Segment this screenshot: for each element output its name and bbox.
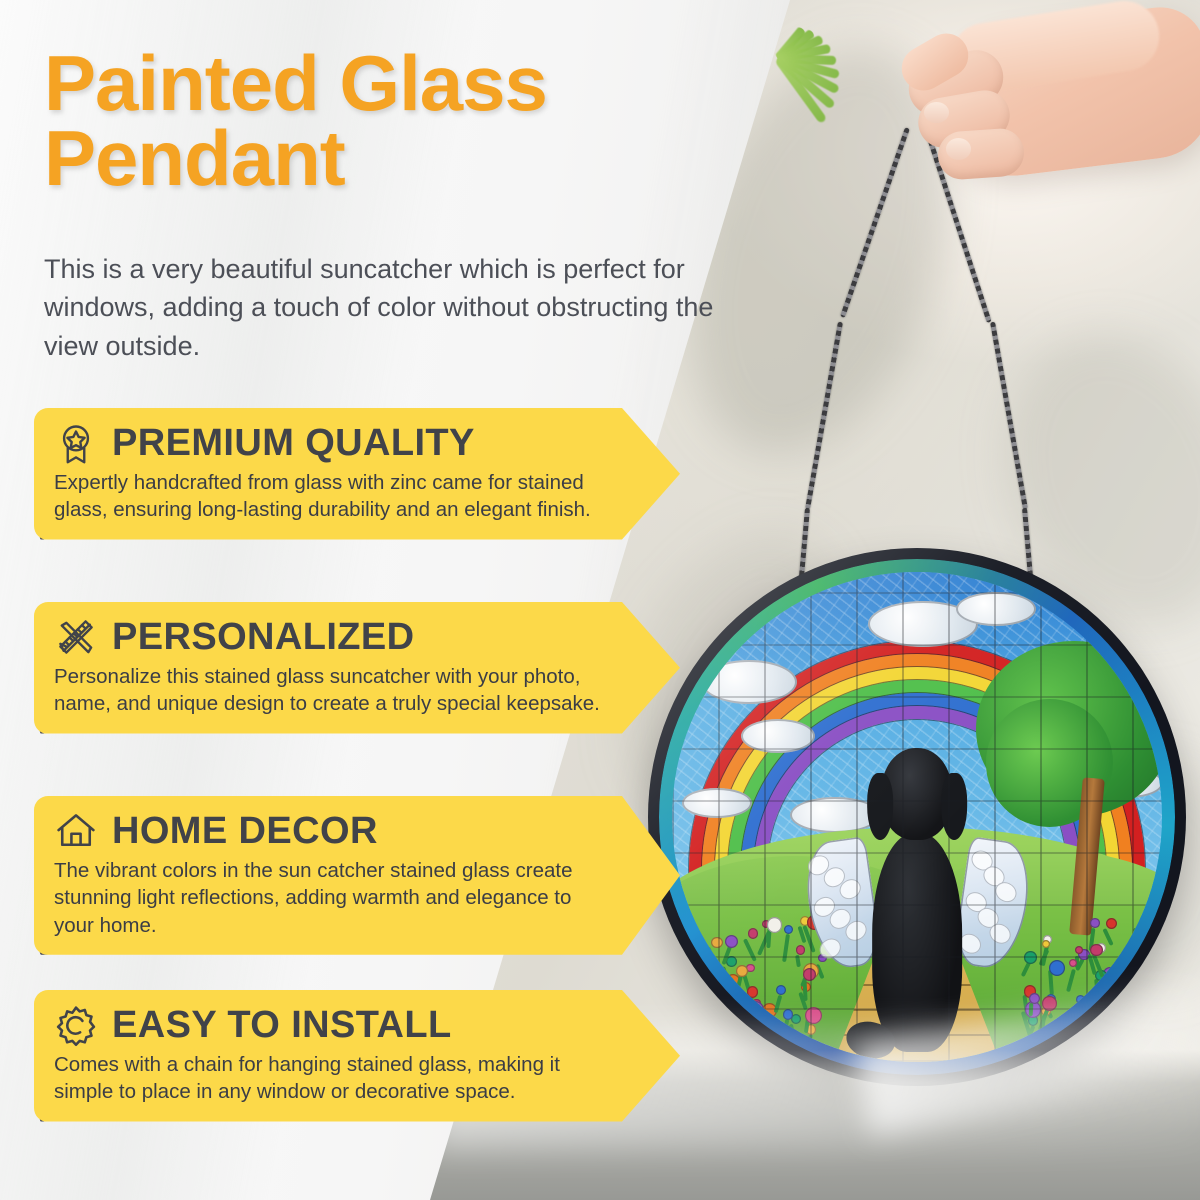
feature-item-easy-to-install[interactable]: EASY TO INSTALL Comes with a chain for h… <box>34 990 680 1122</box>
feature-description: Personalize this stained glass suncatche… <box>54 663 610 718</box>
ruler-pencil-icon <box>54 615 98 659</box>
feature-title: PREMIUM QUALITY <box>112 424 475 462</box>
feature-title: HOME DECOR <box>112 812 378 850</box>
infographic-canvas: Painted Glass Pendant This is a very bea… <box>0 0 1200 1200</box>
page-subtitle: This is a very beautiful suncatcher whic… <box>44 250 734 365</box>
feature-description: The vibrant colors in the sun catcher st… <box>54 857 610 939</box>
page-title-line2: Pendant <box>44 121 764 196</box>
feature-item-home-decor[interactable]: HOME DECOR The vibrant colors in the sun… <box>34 796 680 955</box>
flower-shape <box>701 1010 711 1020</box>
feature-description: Comes with a chain for hanging stained g… <box>54 1051 610 1106</box>
gear-icon <box>54 1003 98 1047</box>
home-heart-icon <box>54 809 98 853</box>
feature-title: EASY TO INSTALL <box>112 1006 452 1044</box>
feature-description: Expertly handcrafted from glass with zin… <box>54 469 610 524</box>
feature-item-premium-quality[interactable]: PREMIUM QUALITY Expertly handcrafted fro… <box>34 408 680 540</box>
hand-holding-pendant <box>880 0 1200 250</box>
page-title-line1: Painted Glass <box>44 46 764 121</box>
award-badge-icon <box>54 421 98 465</box>
feature-title: PERSONALIZED <box>112 618 415 656</box>
flower-shape <box>1147 970 1162 987</box>
page-title: Painted Glass Pendant <box>44 46 764 196</box>
feature-item-personalized[interactable]: PERSONALIZED Personalize this stained gl… <box>34 602 680 734</box>
